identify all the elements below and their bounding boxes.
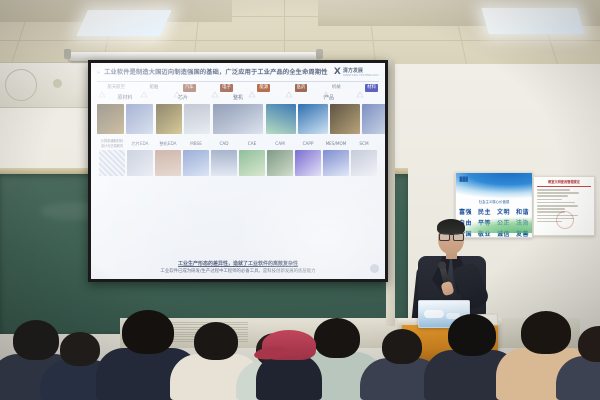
- industry-chip: 电子: [211, 84, 233, 92]
- tech-stack-row: 计算机辅助材料 设计与仿真软件芯片EDA整机EDAMBSECADCAECAMCA…: [97, 138, 379, 176]
- ceiling-light-1: [76, 10, 172, 36]
- speaker-grill-icon: [5, 69, 37, 101]
- audience-member: [556, 320, 600, 400]
- slide-footer-line-1: 工业生产形态的差异性，造就了工业软件的离散复杂性: [91, 260, 385, 268]
- tech-stack-item: 计算机辅助材料 设计与仿真软件: [98, 138, 126, 176]
- audience-head: [448, 314, 496, 356]
- slide-category: 产品: [266, 95, 385, 134]
- audience-head: [122, 310, 174, 354]
- slide-category: 芯片: [156, 95, 210, 134]
- industry-chip-label: 材料: [365, 84, 378, 92]
- industry-chip-label: 船舶: [150, 85, 159, 91]
- speaker-knob-icon: [53, 79, 62, 88]
- category-thumbnails: [266, 104, 385, 134]
- industry-chip: 材料: [356, 84, 378, 92]
- tech-stack-thumbnail: [351, 150, 377, 176]
- category-thumbnail: [330, 104, 360, 134]
- tech-stack-item: CAD: [210, 138, 238, 176]
- projector-screen: » 工业软件是制造大国迈向制造强国的基础，广泛应用于工业产品的全生命周期性 X …: [88, 60, 388, 282]
- red-baseball-cap: [262, 330, 316, 360]
- tech-stack-thumbnail: [267, 150, 293, 176]
- notice-text-line: [537, 189, 570, 191]
- tech-stack-label: CAD: [219, 138, 228, 149]
- industry-icon: [173, 84, 181, 92]
- company-logo: X 清方发展 QINGFANG TECHNOLOGY: [334, 68, 379, 77]
- industry-icon: [140, 84, 148, 92]
- audience-head: [314, 318, 360, 358]
- notice-text-line: [537, 205, 578, 207]
- slide-footer: 工业生产形态的差异性，造就了工业软件的离散复杂性 工业软件已成为研发/生产过程中…: [91, 260, 385, 275]
- tech-stack-item: 整机EDA: [154, 138, 182, 176]
- audience-head: [194, 322, 238, 360]
- tech-stack-thumbnail: [211, 150, 237, 176]
- tech-stack-label: CAPP: [303, 138, 314, 149]
- category-thumbnails: [156, 104, 210, 134]
- category-thumbnail: [213, 104, 263, 134]
- industry-chip-label: 汽车: [183, 84, 196, 92]
- audience-shoulders: [556, 356, 600, 400]
- category-thumbnail: [298, 104, 328, 134]
- tech-stack-thumbnail: [99, 150, 125, 176]
- category-thumbnail: [184, 104, 210, 134]
- tech-stack-label: MES/MOM: [326, 138, 347, 149]
- category-thumbnails: [213, 104, 263, 134]
- notice-text-line: [537, 199, 562, 201]
- bullet-marker-icon: »: [97, 68, 101, 78]
- notice-text-line: [537, 202, 575, 204]
- slide-title: 工业软件是制造大国迈向制造强国的基础，广泛应用于工业产品的全生命周期性: [104, 68, 328, 77]
- category-thumbnail: [97, 104, 124, 134]
- tech-stack-item: CAPP: [294, 138, 322, 176]
- industry-chip-label: 机械: [332, 85, 341, 91]
- notice-text-line: [537, 192, 579, 194]
- tech-stack-label: CAE: [248, 138, 256, 149]
- industry-chip-label: 航天航空: [108, 85, 126, 91]
- category-label: 芯片: [156, 95, 210, 102]
- industry-icon: [285, 84, 293, 92]
- logo-mark-icon: X: [334, 68, 341, 77]
- presentation-slide: » 工业软件是制造大国迈向制造强国的基础，广泛应用于工业产品的全生命周期性 X …: [91, 63, 385, 279]
- notice-rule: [537, 186, 591, 187]
- industry-chip: 机械: [322, 84, 340, 92]
- category-thumbnail: [266, 104, 296, 134]
- poster-heading: 社会主义核心价值观: [456, 199, 532, 204]
- tech-stack-item: CAE: [238, 138, 266, 176]
- tech-stack-label: 整机EDA: [159, 138, 176, 149]
- tech-stack-item: MBSE: [182, 138, 210, 176]
- slide-header: » 工业软件是制造大国迈向制造强国的基础，广泛应用于工业产品的全生命周期性 X …: [97, 68, 379, 78]
- industry-icon: [322, 84, 330, 92]
- slide-divider: [97, 81, 379, 82]
- audience-head: [382, 329, 422, 364]
- classroom-scene: » 工业软件是制造大国迈向制造强国的基础，广泛应用于工业产品的全生命周期性 X …: [0, 0, 600, 400]
- tech-stack-thumbnail: [323, 150, 349, 176]
- category-thumbnail: [156, 104, 182, 134]
- notice-heading: 教室文明使用管理规定: [537, 180, 591, 185]
- slide-category: 原材料: [97, 95, 153, 134]
- industry-chip: 船舶: [140, 84, 158, 92]
- industry-chip-label: 能源: [257, 84, 270, 92]
- industry-chip: 医药: [285, 84, 307, 92]
- category-thumbnails: [97, 104, 153, 134]
- industry-chip: 汽车: [173, 84, 195, 92]
- industry-chip-row: 航天航空船舶汽车电子能源医药机械材料: [97, 84, 379, 92]
- audience-head: [60, 332, 100, 366]
- slide-footer-line-2: 工业软件已成为研发/生产过程中工程师的必备工具，是科技创新发展的底层能力: [91, 268, 385, 275]
- poster-logo-icon: ▮▮▮: [459, 176, 468, 183]
- tech-stack-thumbnail: [183, 150, 209, 176]
- tech-stack-label: 计算机辅助材料 设计与仿真软件: [101, 138, 123, 149]
- industry-chip-label: 电子: [220, 84, 233, 92]
- tech-stack-label: CAM: [275, 138, 284, 149]
- ceiling-light-2: [481, 8, 584, 34]
- glasses-icon: [439, 233, 463, 239]
- tech-stack-label: SCM: [359, 138, 368, 149]
- tech-stack-thumbnail: [155, 150, 181, 176]
- logo-subtitle: QINGFANG TECHNOLOGY: [343, 74, 379, 77]
- industry-icon: [98, 84, 106, 92]
- industry-chip: 航天航空: [98, 84, 125, 92]
- tech-stack-item: CAM: [266, 138, 294, 176]
- audience: [0, 280, 600, 400]
- category-row: 原材料芯片整机产品: [97, 95, 379, 134]
- roller-bracket-right: [316, 49, 323, 59]
- tech-stack-thumbnail: [295, 150, 321, 176]
- notice-text-line: [537, 195, 568, 197]
- official-seal-icon: [556, 211, 574, 229]
- audience-member: [256, 354, 322, 400]
- industry-icon: [248, 84, 256, 92]
- tech-stack-thumbnail: [127, 150, 153, 176]
- tech-stack-item: 芯片EDA: [126, 138, 154, 176]
- wall-speaker-box: [0, 62, 100, 108]
- industry-chip-label: 医药: [295, 84, 308, 92]
- category-thumbnail: [126, 104, 153, 134]
- audience-head: [578, 326, 600, 362]
- roller-bracket-left: [64, 49, 71, 59]
- notice-text-line: [537, 208, 565, 210]
- tech-stack-thumbnail: [239, 150, 265, 176]
- slide-category: 整机: [213, 95, 263, 134]
- industry-icon: [211, 84, 219, 92]
- category-thumbnail: [362, 104, 385, 134]
- tech-stack-item: SCM: [350, 138, 378, 176]
- tech-stack-label: MBSE: [190, 138, 202, 149]
- slide-page-indicator: [370, 264, 379, 273]
- industry-chip: 能源: [248, 84, 270, 92]
- notice-document: 教室文明使用管理规定: [533, 176, 595, 236]
- tech-stack-item: MES/MOM: [322, 138, 350, 176]
- industry-icon: [356, 84, 364, 92]
- tech-stack-label: 芯片EDA: [131, 138, 148, 149]
